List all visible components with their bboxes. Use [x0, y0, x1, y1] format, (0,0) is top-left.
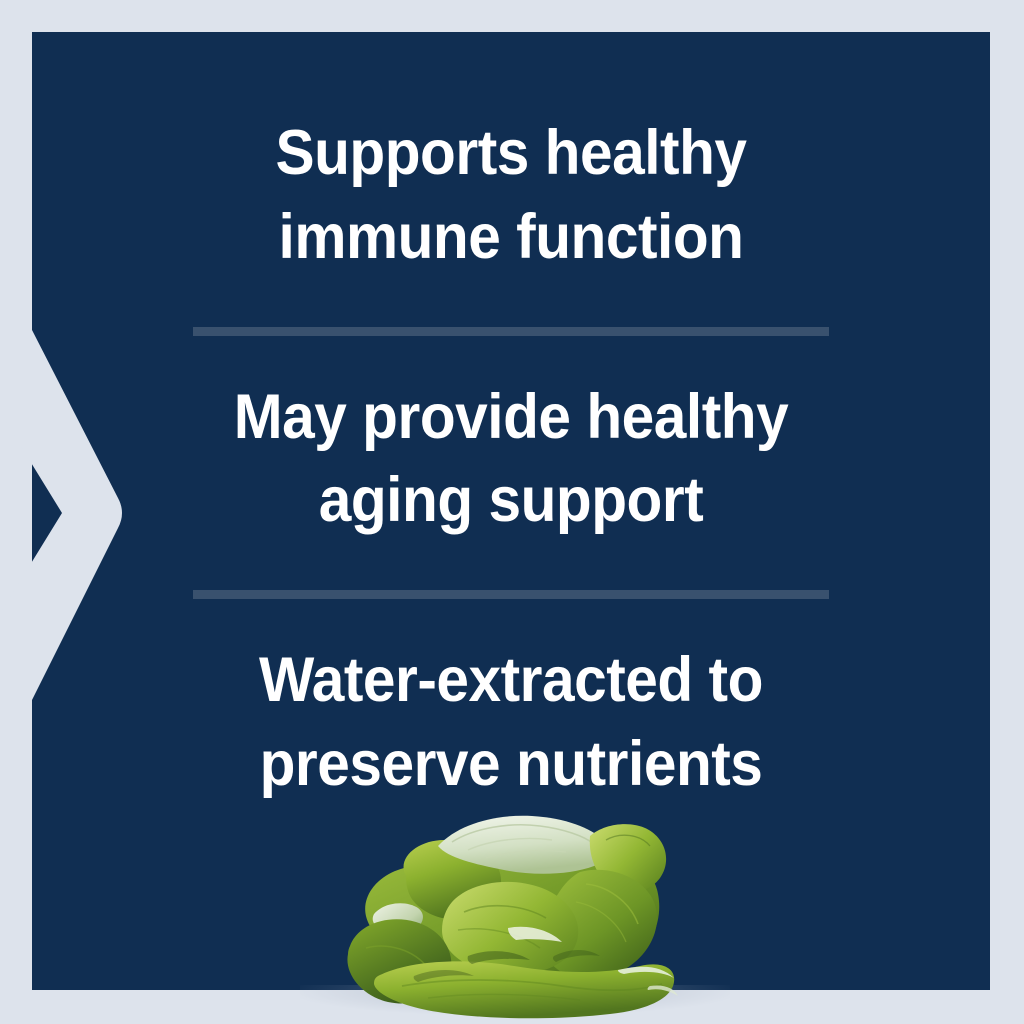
claim-aging-line1: May provide healthy [186, 376, 837, 460]
claim-extraction: Water-extracted to preserve nutrients [186, 639, 837, 807]
claim-immune-line2: immune function [186, 196, 837, 280]
claim-aging: May provide healthy aging support [186, 376, 837, 544]
claim-extraction-line2: preserve nutrients [186, 723, 837, 807]
claim-aging-line2: aging support [186, 459, 837, 543]
divider-1 [193, 327, 829, 336]
product-benefits-graphic: Supports healthy immune function May pro… [0, 0, 1024, 1024]
divider-2 [193, 590, 829, 599]
claim-immune-line1: Supports healthy [186, 112, 837, 196]
claim-immune: Supports healthy immune function [186, 112, 837, 280]
claims-stack: Supports healthy immune function May pro… [32, 32, 990, 990]
claim-extraction-line1: Water-extracted to [186, 639, 837, 723]
